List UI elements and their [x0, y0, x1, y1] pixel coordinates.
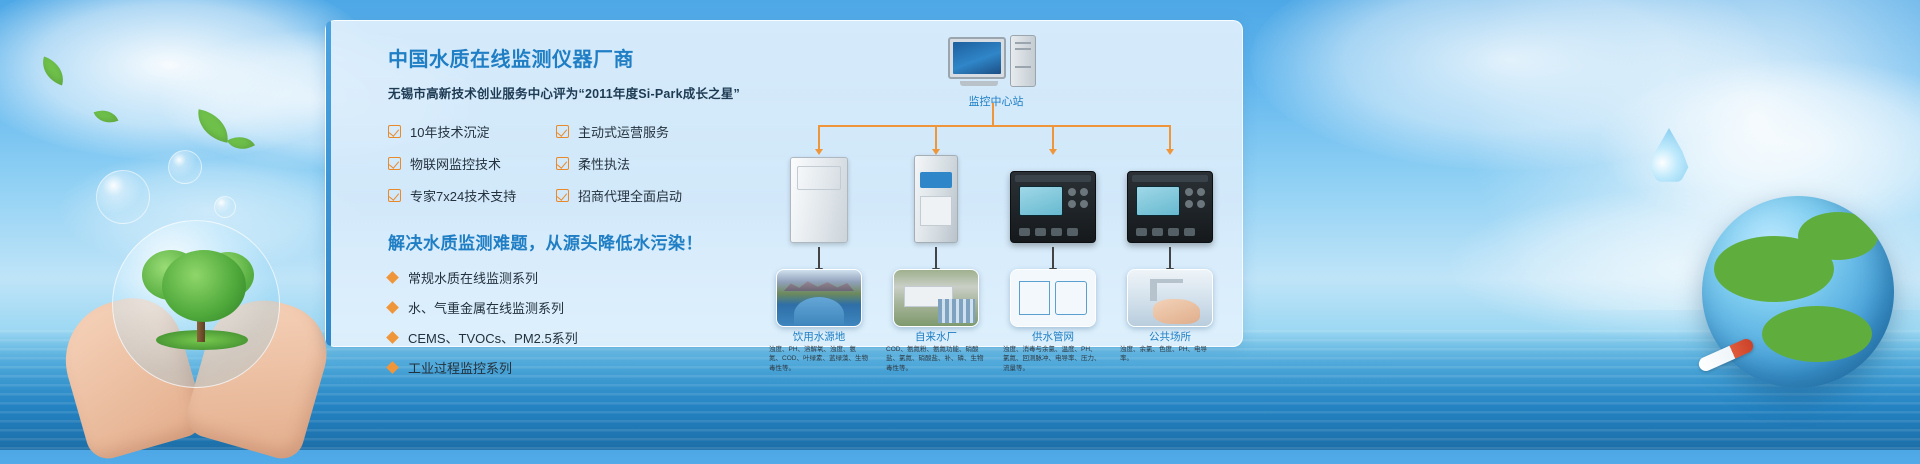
content-panel: 中国水质在线监测仪器厂商 无锡市高新技术创业服务中心评为“2011年度Si-Pa… — [325, 20, 1243, 347]
checklist-item-label: 物联网监控技术 — [410, 154, 501, 173]
list-item-label: 常规水质在线监测系列 — [408, 268, 538, 287]
waterworks-photo — [893, 269, 979, 327]
analyzer-rack-icon — [888, 151, 984, 243]
checklist-item: 主动式运营服务 — [556, 122, 778, 141]
bubble-decoration — [96, 170, 150, 224]
node-label-4: 公共场所 — [1115, 329, 1225, 344]
node-desc-3: 浊度、消毒与余氯、温度、PH、氯氮、回测脉冲、电导率、压力、流量等。 — [1003, 345, 1103, 373]
river-photo — [776, 269, 862, 327]
left-text-column: 中国水质在线监测仪器厂商 无锡市高新技术创业服务中心评为“2011年度Si-Pa… — [388, 43, 778, 377]
checklist-item-label: 专家7x24技术支持 — [410, 186, 516, 205]
arrow-down-icon — [1169, 247, 1171, 269]
pc-tower-icon — [1010, 35, 1036, 87]
connector-down — [935, 125, 937, 149]
node-label-3: 供水管网 — [998, 329, 1108, 344]
arrow-down-icon — [818, 247, 820, 269]
checklist-item: 专家7x24技术支持 — [388, 186, 546, 205]
diamond-bullet-icon — [386, 301, 399, 314]
checklist-item-label: 主动式运营服务 — [578, 122, 669, 141]
topology-connectors — [766, 115, 1226, 151]
list-item-label: CEMS、TVOCs、PM2.5系列 — [408, 328, 578, 347]
checklist-item-label: 10年技术沉淀 — [410, 122, 489, 141]
diamond-bullet-icon — [386, 271, 399, 284]
checkbox-icon — [388, 125, 401, 138]
connector-down — [818, 125, 820, 149]
bubble-decoration — [214, 196, 236, 218]
monitor-stand — [960, 81, 998, 86]
controller-panel-dark-icon — [1122, 151, 1218, 243]
page-subtitle: 无锡市高新技术创业服务中心评为“2011年度Si-Park成长之星” — [388, 83, 778, 102]
list-item: CEMS、TVOCs、PM2.5系列 — [388, 328, 778, 347]
node-desc-4: 浊度、余氯、色度、PH、电导率。 — [1120, 345, 1220, 364]
product-series-list: 常规水质在线监测系列 水、气重金属在线监测系列 CEMS、TVOCs、PM2.5… — [388, 268, 778, 377]
node-desc-2: COD、氨氮粉、氨氮功能、硝酸盐、氯氮、硝酸盐、补、磷、生物毒性等。 — [886, 345, 986, 373]
checkbox-icon — [388, 189, 401, 202]
checklist-item: 10年技术沉淀 — [388, 122, 546, 141]
node-label-2: 自来水厂 — [881, 329, 991, 344]
monitor-icon — [948, 37, 1006, 79]
list-item: 工业过程监控系列 — [388, 358, 778, 377]
pipe-network-photo — [1010, 269, 1096, 327]
tree-canopy — [162, 250, 246, 322]
checkbox-icon — [388, 157, 401, 170]
checkbox-icon — [556, 189, 569, 202]
checkbox-icon — [556, 157, 569, 170]
connector-up — [992, 103, 994, 125]
list-item: 水、气重金属在线监测系列 — [388, 298, 778, 317]
leaf-icon — [227, 130, 255, 157]
node-label-1: 饮用水源地 — [764, 329, 874, 344]
checklist-item: 招商代理全面启动 — [556, 186, 778, 205]
arrow-down-icon — [1052, 247, 1054, 269]
controller-panel-icon — [1005, 151, 1101, 243]
leaf-icon — [94, 105, 119, 128]
page-title: 中国水质在线监测仪器厂商 — [388, 43, 778, 72]
checklist-item: 柔性执法 — [556, 154, 778, 173]
leaf-icon — [194, 109, 232, 142]
desktop-computer-icon — [948, 37, 1038, 89]
island-landmass — [1798, 212, 1878, 260]
section-heading: 解决水质监测难题，从源头降低水污染！ — [388, 229, 778, 254]
checkbox-icon — [556, 125, 569, 138]
water-droplet-icon — [1648, 128, 1690, 184]
tap-photo — [1127, 269, 1213, 327]
water-cabinet-icon — [771, 151, 867, 243]
arrow-down-icon — [935, 247, 937, 269]
list-item-label: 工业过程监控系列 — [408, 358, 512, 377]
diamond-bullet-icon — [386, 331, 399, 344]
hands-holding-tree-illustration — [70, 250, 320, 450]
checklist-item-label: 柔性执法 — [578, 154, 630, 173]
connector-horizontal — [818, 125, 1170, 127]
leaf-icon — [37, 57, 69, 86]
checklist-item-label: 招商代理全面启动 — [578, 186, 682, 205]
feature-checklist: 10年技术沉淀 主动式运营服务 物联网监控技术 柔性执法 专家7x24技术支持 … — [388, 122, 778, 205]
diamond-bullet-icon — [386, 361, 399, 374]
list-item: 常规水质在线监测系列 — [388, 268, 778, 287]
monitor-screen — [953, 42, 1001, 74]
list-item-label: 水、气重金属在线监测系列 — [408, 298, 564, 317]
connector-down — [1052, 125, 1054, 149]
connector-down — [1169, 125, 1171, 149]
island-landmass — [1762, 306, 1872, 362]
bubble-decoration — [168, 150, 202, 184]
checklist-item: 物联网监控技术 — [388, 154, 546, 173]
center-station-label: 监控中心站 — [916, 93, 1076, 109]
cloud-decoration — [1250, 0, 1770, 170]
node-desc-1: 浊度、PH、溶解氧、浊度、氨氮、COD、叶绿素、蓝绿藻、生物毒性等。 — [769, 345, 869, 373]
system-topology-diagram: 监控中心站 饮用水源地 浊度、PH、溶解氧、浊度、氨氮、COD、叶绿素、蓝绿藻、… — [766, 33, 1226, 343]
